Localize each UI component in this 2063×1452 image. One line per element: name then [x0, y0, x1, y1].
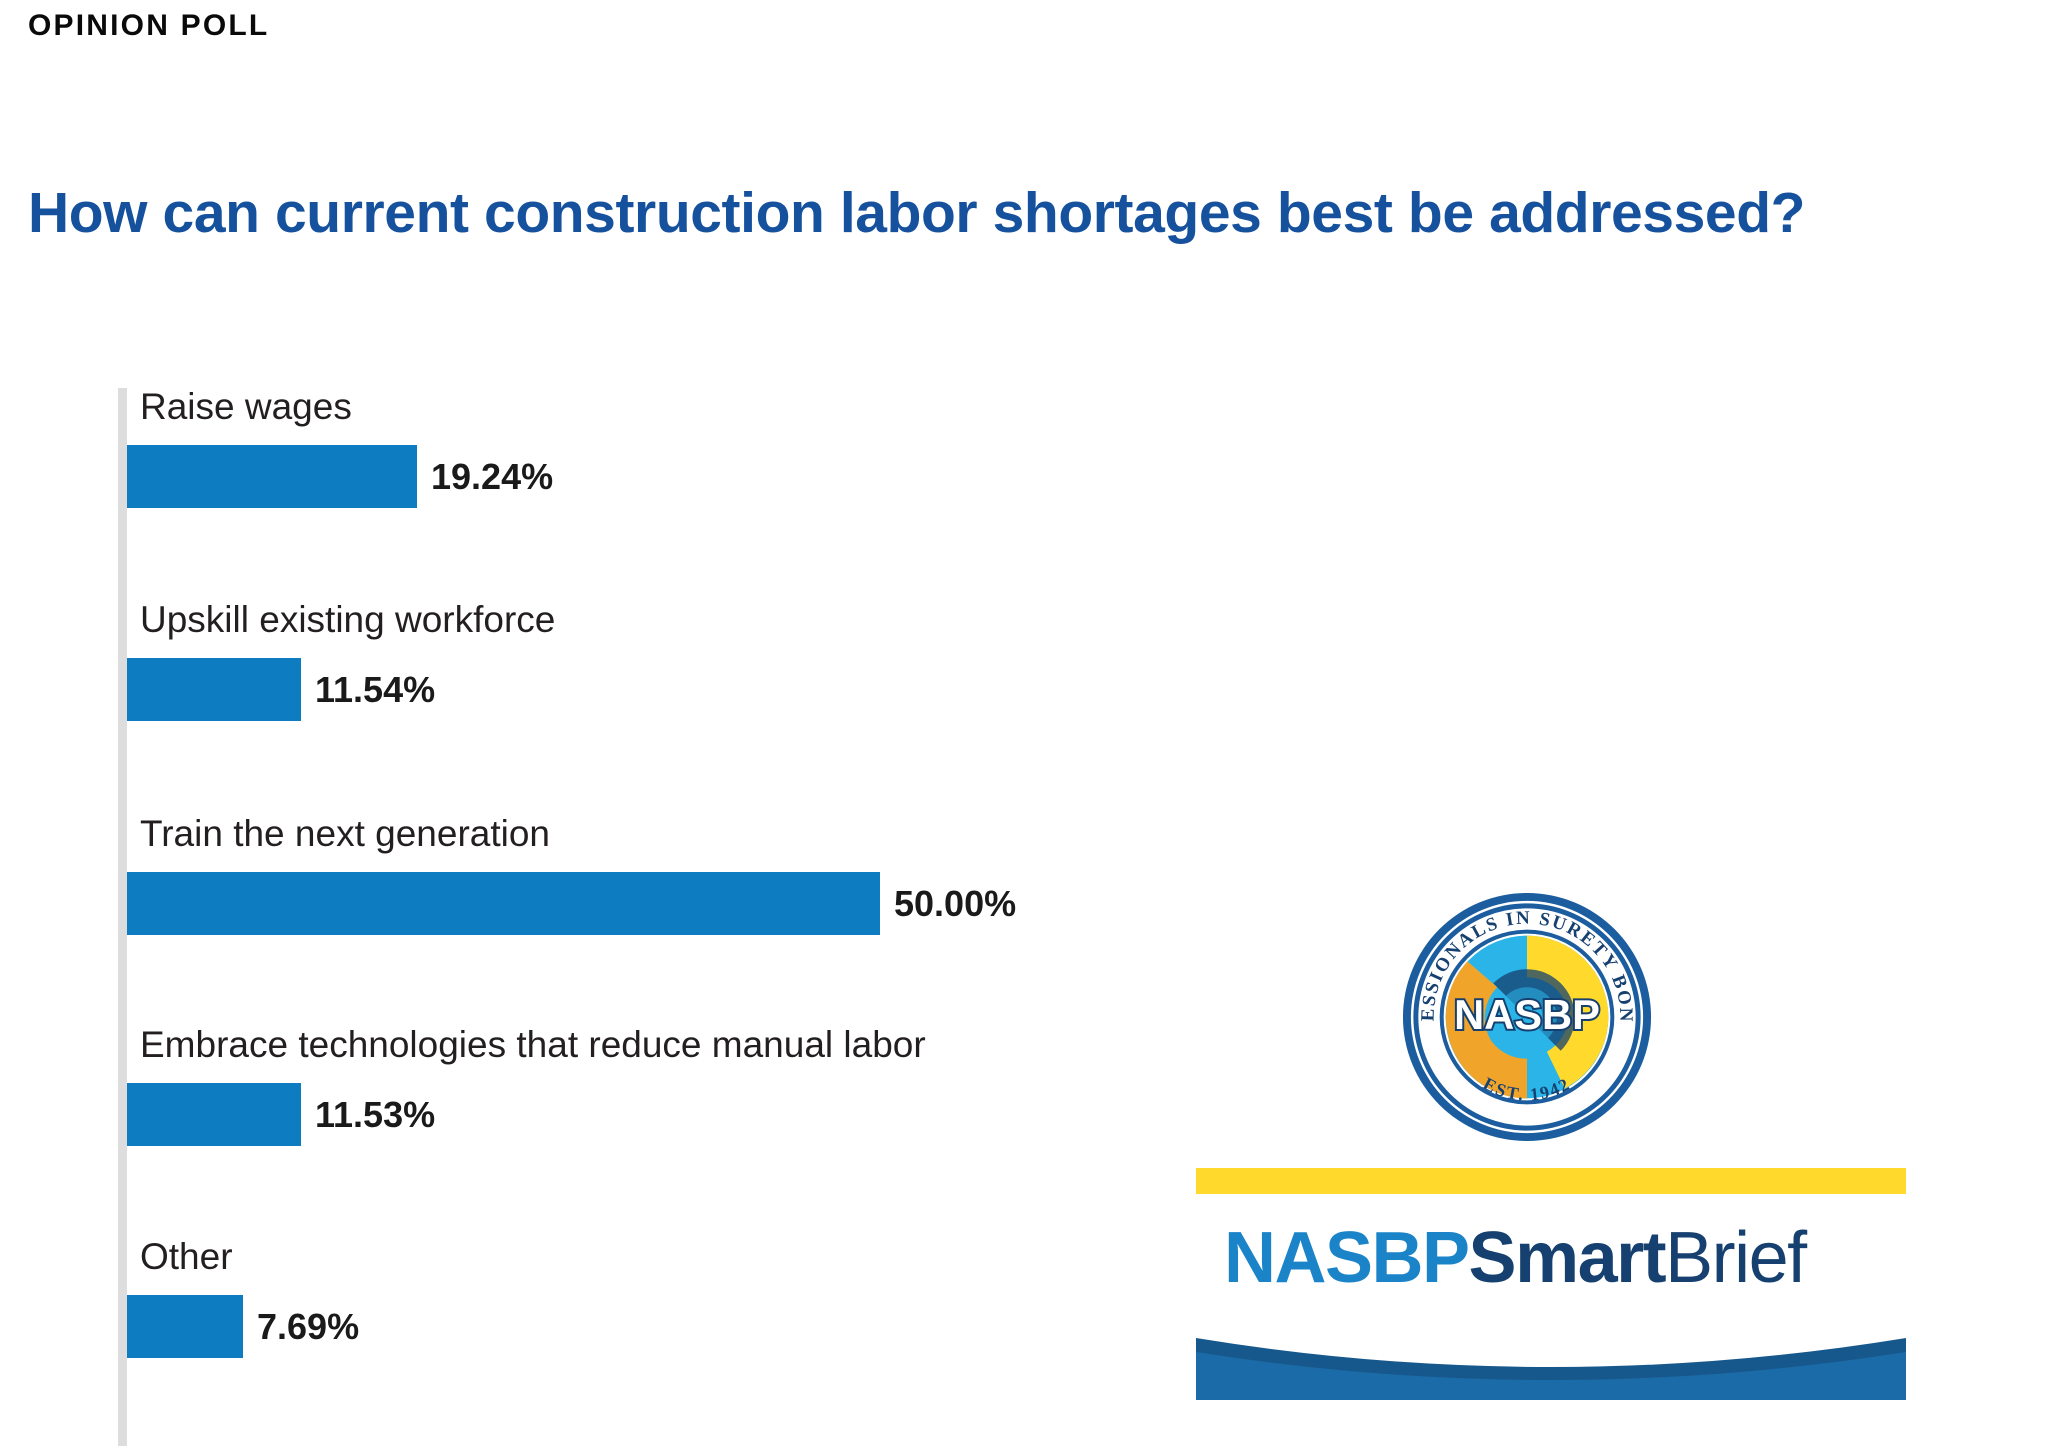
bar-label-1: Upskill existing workforce [140, 601, 555, 638]
bar-label-0: Raise wages [140, 388, 352, 425]
bar-value-2: 50.00% [894, 886, 1016, 922]
smartbrief-wordmark: NASBPSmartBrief [1224, 1222, 1806, 1294]
smartbrief-bottom-curve [1196, 1338, 1906, 1400]
bar-track-3: 11.53% [127, 1083, 1118, 1146]
smartbrief-nasbp-text: NASBP [1224, 1218, 1469, 1298]
page-title: How can current construction labor short… [28, 180, 1928, 247]
bar-value-3: 11.53% [315, 1097, 435, 1133]
bar-fill-1 [127, 658, 301, 721]
smartbrief-smart-text: Smart [1469, 1218, 1666, 1298]
bar-track-4: 7.69% [127, 1295, 1118, 1358]
bar-label-3: Embrace technologies that reduce manual … [140, 1026, 926, 1063]
chart-axis-line [118, 388, 127, 1446]
bar-fill-3 [127, 1083, 301, 1146]
bar-track-0: 19.24% [127, 445, 1118, 508]
chart-bar-rows: Raise wages 19.24% Upskill existing work… [127, 388, 1118, 1446]
bar-label-4: Other [140, 1238, 233, 1275]
smartbrief-top-bar [1196, 1168, 1906, 1194]
bar-label-2: Train the next generation [140, 815, 550, 852]
nasbp-seal-logo: PROFESSIONALS IN SURETY BONDING EST. 194… [1398, 888, 1656, 1146]
bar-fill-2 [127, 872, 880, 935]
smartbrief-brief-text: Brief [1665, 1218, 1806, 1298]
bar-value-4: 7.69% [257, 1309, 359, 1345]
poll-bar-chart: Raise wages 19.24% Upskill existing work… [118, 388, 1118, 1446]
seal-center-wordmark: NASBP [1454, 991, 1600, 1038]
nasbp-smartbrief-logo: NASBPSmartBrief [1196, 1168, 1906, 1400]
bar-value-0: 19.24% [431, 459, 553, 495]
bar-value-1: 11.54% [315, 672, 435, 708]
bar-track-1: 11.54% [127, 658, 1118, 721]
bar-track-2: 50.00% [127, 872, 1118, 935]
opinion-poll-kicker: OPINION POLL [28, 11, 269, 41]
bar-fill-4 [127, 1295, 243, 1358]
bar-fill-0 [127, 445, 417, 508]
